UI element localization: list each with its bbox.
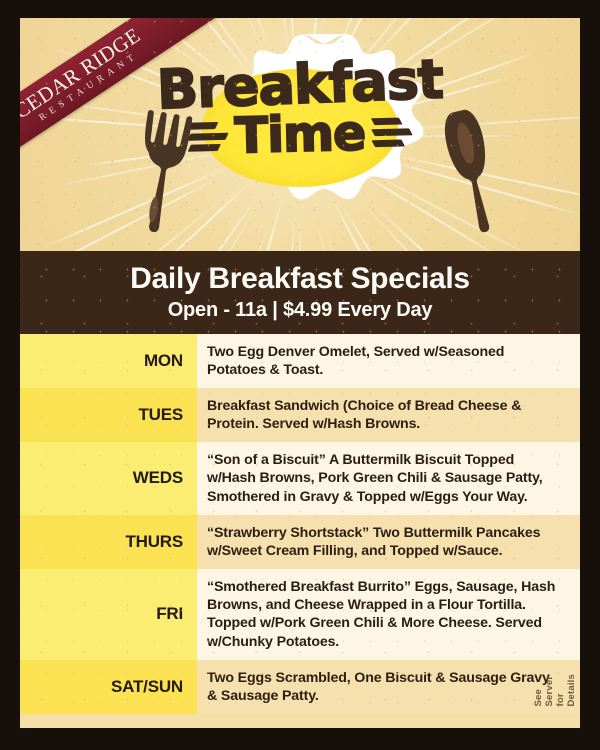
page-title: Daily Breakfast Specials [20, 263, 580, 295]
table-row: FRI“Smothered Breakfast Burrito” Eggs, S… [20, 569, 580, 660]
day-label: WEDS [20, 442, 197, 515]
day-label: THURS [20, 515, 197, 569]
special-description: Two Eggs Scrambled, One Biscuit & Sausag… [197, 660, 580, 714]
special-description: “Son of a Biscuit” A Buttermilk Biscuit … [197, 442, 580, 515]
day-label: FRI [20, 569, 197, 660]
menu-board: Breakfast Time [20, 18, 580, 728]
specials-list: MONTwo Egg Denver Omelet, Served w/Seaso… [20, 334, 580, 715]
special-description: Breakfast Sandwich (Choice of Bread Chee… [197, 388, 580, 442]
table-row: WEDS“Son of a Biscuit” A Buttermilk Bisc… [20, 442, 580, 515]
day-label: SAT/SUN [20, 660, 197, 714]
day-label: TUES [20, 388, 197, 442]
page-subtitle: Open - 11a | $4.99 Every Day [20, 300, 580, 321]
table-row: MONTwo Egg Denver Omelet, Served w/Seaso… [20, 334, 580, 388]
table-row: SAT/SUNTwo Eggs Scrambled, One Biscuit &… [20, 660, 580, 714]
header-band: Daily Breakfast Specials Open - 11a | $4… [20, 251, 580, 334]
special-description: “Strawberry Shortstack” Two Buttermilk P… [197, 515, 580, 569]
special-description: Two Egg Denver Omelet, Served w/Seasoned… [197, 334, 580, 388]
poster-frame: Breakfast Time [0, 0, 600, 750]
sun-disc [202, 69, 398, 187]
day-label: MON [20, 334, 197, 388]
table-row: THURS “Strawberry Shortstack” Two Butter… [20, 515, 580, 569]
hero-section: Breakfast Time [20, 18, 580, 251]
disclaimer-text: See Server for Details [533, 674, 577, 707]
table-row: TUESBreakfast Sandwich (Choice of Bread … [20, 388, 580, 442]
special-description: “Smothered Breakfast Burrito” Eggs, Saus… [197, 569, 580, 660]
